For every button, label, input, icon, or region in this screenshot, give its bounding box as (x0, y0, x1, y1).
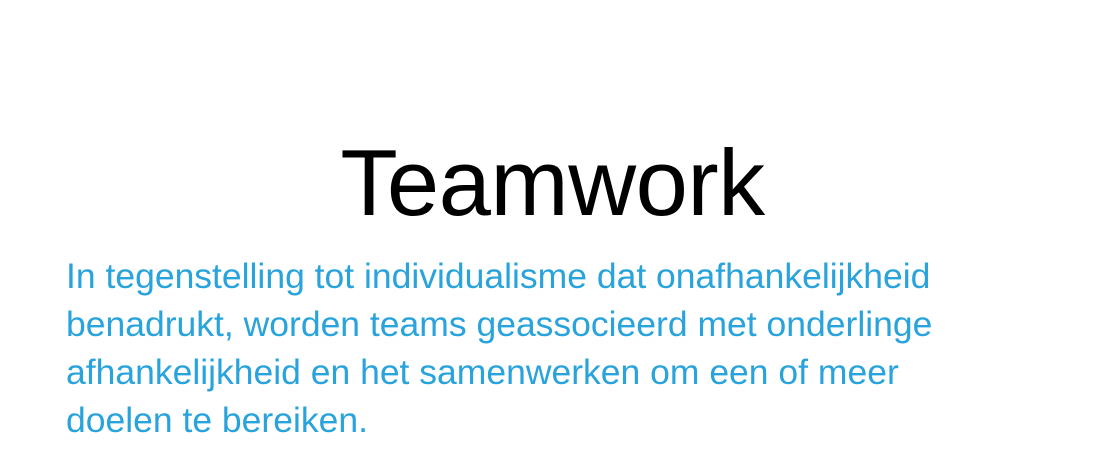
slide-body-text: In tegenstelling tot individualisme dat … (66, 252, 996, 444)
body-paragraph: In tegenstelling tot individualisme dat … (66, 252, 996, 444)
slide-canvas: Teamwork In tegenstelling tot individual… (0, 0, 1105, 458)
page-title: Teamwork (0, 127, 1105, 239)
